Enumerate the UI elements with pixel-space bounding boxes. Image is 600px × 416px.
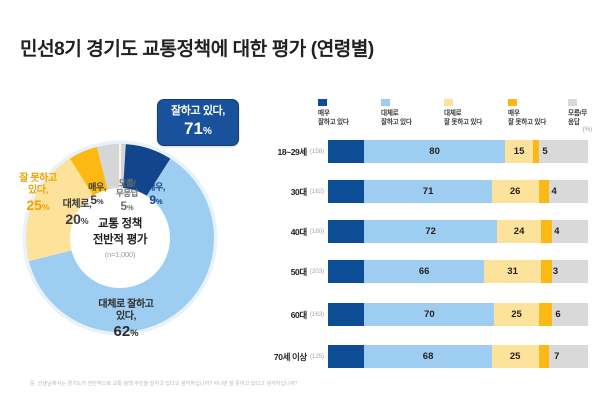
callout-unit: % — [203, 126, 212, 137]
bar-segment-2: 25 — [494, 303, 538, 326]
bar-segment-value: 15 — [514, 146, 525, 157]
bar-category-name: 18~29세 — [278, 146, 307, 158]
footnote: 문. 선생님께서는 경기도가 전반적으로 교통 정책 추진을 잘하고 있다고 생… — [30, 381, 570, 389]
bar-category-name: 60대 — [291, 309, 307, 321]
bar-segment-value: 7 — [554, 351, 559, 362]
bar-segment-value: 3 — [553, 266, 558, 277]
legend-item-1[interactable]: 대체로 잘하고 있다 — [381, 99, 412, 128]
legend-item-4[interactable]: 모름/무응답 — [568, 99, 592, 128]
bar-segment-value: 70 — [424, 309, 435, 320]
bar-segment-3 — [541, 260, 551, 283]
bar-segment-3 — [539, 180, 549, 203]
bar-segment-value: 68 — [423, 351, 434, 362]
chart-legend: (%) 매우 잘하고 있다대체로 잘하고 있다대체로 잘 못하고 있다매우 잘 … — [310, 99, 592, 133]
bar-segment-2: 31 — [484, 260, 541, 283]
legend-swatch-1 — [381, 99, 390, 106]
bar-row-label: 30대(162) — [240, 180, 324, 203]
donut-label-maeu-bad: 매우, 5% — [84, 182, 110, 208]
callout-number: 71 — [184, 119, 203, 138]
bar-segment-2: 24 — [497, 220, 541, 243]
bar-category-n: (158) — [310, 148, 324, 155]
bar-row-label: 40대(180) — [240, 220, 324, 243]
bar-segment-value: 72 — [425, 226, 436, 237]
legend-swatch-3 — [508, 99, 517, 106]
donut-positive-number: 62 — [114, 323, 131, 340]
bar-segment-0 — [328, 303, 364, 326]
bar-row[interactable]: 40대(180)72244 — [240, 220, 588, 243]
legend-label-3: 매우 잘 못하고 있다 — [508, 109, 546, 128]
donut-dk-unit: % — [127, 203, 134, 212]
bar-segment-3 — [539, 303, 552, 326]
bar-segment-value: 80 — [429, 146, 440, 157]
bar-segment-3 — [539, 345, 549, 368]
legend-item-2[interactable]: 대체로 잘 못하고 있다 — [444, 99, 482, 128]
donut-label-positive: 대체로 잘하고 있다, 62% — [73, 299, 179, 342]
bar-row[interactable]: 30대(162)71264 — [240, 180, 588, 203]
bar-category-n: (180) — [310, 228, 324, 235]
donut-label-positive-value: 62% — [73, 323, 179, 341]
donut-label-maeu-bad-value: 5% — [84, 193, 110, 208]
bar-segment-value: 4 — [554, 226, 559, 237]
bar-category-name: 70세 이상 — [274, 351, 307, 363]
bar-segment-4: 4 — [549, 180, 559, 203]
bar-track: 68257 — [328, 345, 588, 368]
legend-swatch-2 — [444, 99, 453, 106]
bar-segment-0 — [328, 260, 364, 283]
legend-item-0[interactable]: 매우 잘하고 있다 — [318, 99, 349, 128]
bar-segment-1: 80 — [364, 140, 504, 163]
bar-segment-1: 66 — [364, 260, 484, 283]
bar-segment-0 — [328, 140, 364, 163]
bar-segment-value: 24 — [514, 226, 525, 237]
bar-segment-4: 5 — [539, 140, 552, 163]
bar-category-name: 50대 — [291, 266, 307, 278]
bar-track: 72244 — [328, 220, 588, 243]
bar-track: 70256 — [328, 303, 588, 326]
legend-label-1: 대체로 잘하고 있다 — [381, 109, 412, 128]
bar-segment-4: 7 — [549, 345, 565, 368]
page-title: 민선8기 경기도 교통정책에 대한 평가 (연령별) — [20, 34, 374, 61]
bar-track: 71264 — [328, 180, 588, 203]
bar-category-n: (163) — [310, 311, 324, 318]
bar-segment-1: 71 — [364, 180, 491, 203]
bar-row-label: 50대(203) — [240, 260, 324, 283]
bar-chart: 18~29세(158)8015530대(162)7126440대(180)722… — [240, 140, 588, 372]
donut-maeu-good-unit: % — [156, 197, 163, 206]
bar-segment-value: 71 — [423, 186, 434, 197]
donut-label-dk: 모름/ 무응답 5% — [110, 178, 144, 213]
legend-label-0: 매우 잘하고 있다 — [318, 109, 349, 128]
bar-segment-value: 25 — [510, 351, 521, 362]
bar-segment-value: 5 — [542, 146, 547, 157]
bar-row[interactable]: 60대(163)70256 — [240, 303, 588, 326]
bar-row[interactable]: 50대(203)66313 — [240, 260, 588, 283]
bar-segment-3 — [541, 220, 551, 243]
bar-segment-2: 26 — [492, 180, 539, 203]
bar-row-label: 18~29세(158) — [240, 140, 324, 163]
donut-label-dk-text: 모름/ 무응답 — [110, 178, 144, 199]
bar-segment-4: 3 — [552, 260, 560, 283]
bar-category-n: (162) — [310, 188, 324, 195]
legend-unit-note: (%) — [583, 127, 592, 133]
bar-row[interactable]: 70세 이상(125)68257 — [240, 345, 588, 368]
callout-label: 잘하고 있다, — [171, 105, 225, 118]
callout-positive-total: 잘하고 있다, 71% — [157, 99, 239, 146]
bar-segment-2: 25 — [492, 345, 539, 368]
donut-label-maeu-good: 매우, 9% — [142, 182, 170, 208]
bar-segment-value: 6 — [555, 309, 560, 320]
bar-segment-0 — [328, 180, 364, 203]
legend-item-3[interactable]: 매우 잘 못하고 있다 — [508, 99, 546, 128]
bar-category-name: 30대 — [291, 186, 307, 198]
legend-swatch-0 — [318, 99, 327, 106]
donut-label-negative-total-text: 잘 못하고 있다, — [2, 173, 74, 197]
bar-segment-1: 70 — [364, 303, 494, 326]
bar-segment-0 — [328, 345, 364, 368]
bar-segment-value: 4 — [552, 186, 557, 197]
bar-segment-4: 6 — [552, 303, 565, 326]
bar-row-label: 60대(163) — [240, 303, 324, 326]
donut-label-maeu-good-value: 9% — [142, 193, 170, 208]
donut-positive-unit: % — [130, 328, 138, 338]
donut-label-maeu-good-text: 매우, — [142, 182, 170, 193]
bar-row-label: 70세 이상(125) — [240, 345, 324, 368]
bar-segment-value: 26 — [510, 186, 521, 197]
bar-category-n: (203) — [310, 268, 324, 275]
bar-segment-1: 68 — [364, 345, 491, 368]
donut-maeu-bad-unit: % — [97, 197, 104, 206]
bar-category-n: (125) — [310, 353, 324, 360]
bar-segment-1: 72 — [364, 220, 497, 243]
donut-label-dk-value: 5% — [110, 199, 144, 214]
infographic-page: 민선8기 경기도 교통정책에 대한 평가 (연령별) 잘하고 있다, 71% — [0, 0, 600, 416]
donut-label-daeche-bad-value: 20% — [50, 211, 104, 228]
legend-label-2: 대체로 잘 못하고 있다 — [444, 109, 482, 128]
donut-negative-total-unit: % — [42, 202, 50, 212]
bar-segment-value: 66 — [419, 266, 430, 277]
donut-label-positive-text: 대체로 잘하고 있다, — [73, 299, 179, 323]
bar-segment-2: 15 — [505, 140, 534, 163]
legend-label-4: 모름/무응답 — [568, 109, 592, 128]
bar-row[interactable]: 18~29세(158)80155 — [240, 140, 588, 163]
bar-segment-0 — [328, 220, 364, 243]
callout-value: 71% — [171, 119, 225, 139]
bar-category-name: 40대 — [291, 226, 307, 238]
bar-segment-value: 25 — [511, 309, 522, 320]
donut-daeche-bad-unit: % — [81, 216, 89, 226]
donut-daeche-bad-number: 20 — [65, 211, 81, 227]
donut-label-maeu-bad-text: 매우, — [84, 182, 110, 193]
legend-swatch-4 — [568, 99, 577, 106]
donut-negative-total-number: 25 — [26, 197, 42, 213]
bar-track: 66313 — [328, 260, 588, 283]
bar-segment-value: 31 — [507, 266, 518, 277]
bar-segment-4: 4 — [552, 220, 562, 243]
bar-track: 80155 — [328, 140, 588, 163]
